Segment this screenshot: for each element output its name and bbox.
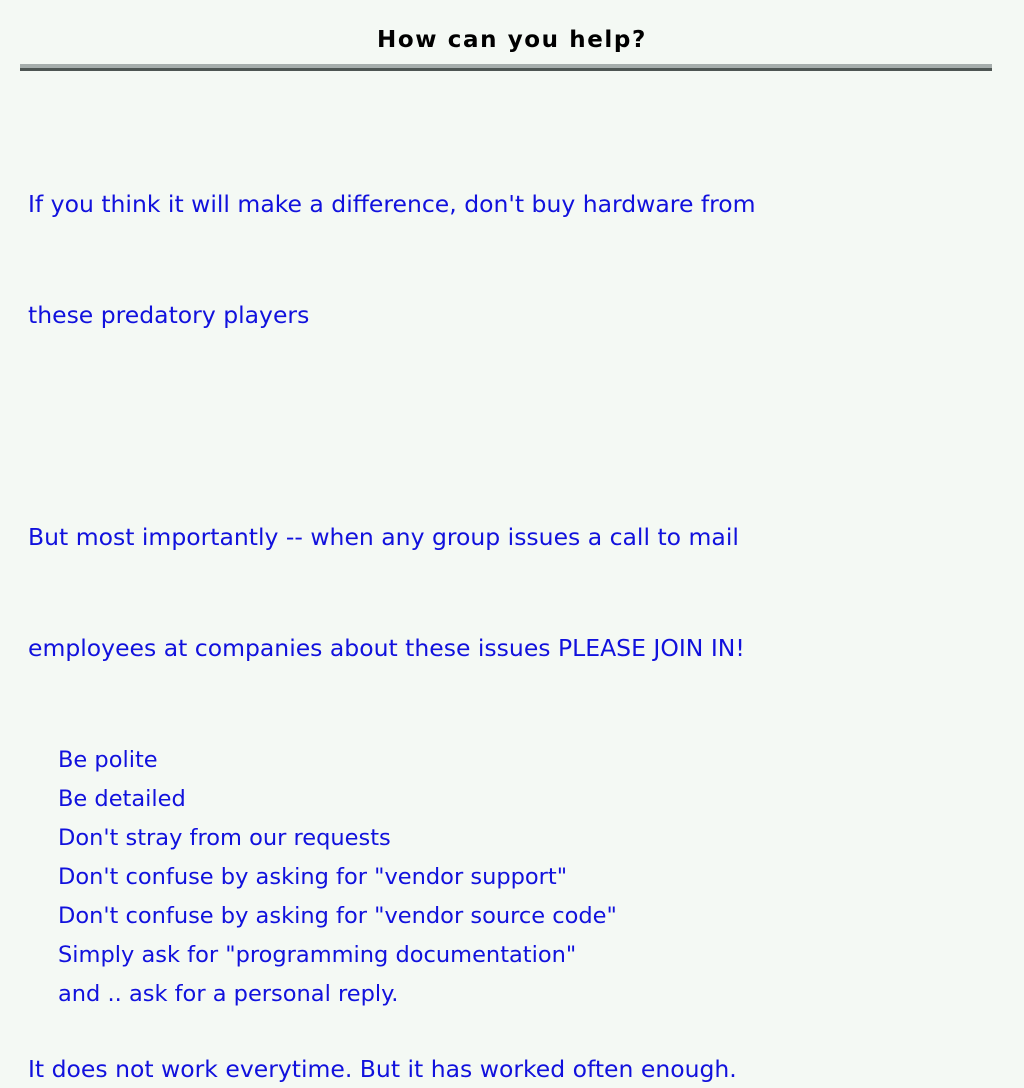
paragraph-1-line-2: these predatory players xyxy=(28,297,996,334)
list-item: Don't confuse by asking for "vendor supp… xyxy=(58,858,996,897)
slide-body: If you think it will make a difference, … xyxy=(28,112,996,1088)
list-item: Don't stray from our requests xyxy=(58,819,996,858)
list-item: Be polite xyxy=(58,741,996,780)
slide-canvas: How can you help? If you think it will m… xyxy=(0,0,1024,768)
list-item: Simply ask for "programming documentatio… xyxy=(58,936,996,975)
closing-paragraph: It does not work everytime. But it has w… xyxy=(28,1051,996,1088)
paragraph-spacer xyxy=(28,408,996,445)
page-title: How can you help? xyxy=(0,26,1024,54)
paragraph-1: If you think it will make a difference, … xyxy=(28,112,996,408)
advice-list: Be polite Be detailed Don't stray from o… xyxy=(58,741,996,1014)
paragraph-2-line-2: employees at companies about these issue… xyxy=(28,630,996,667)
title-divider xyxy=(20,64,992,71)
paragraph-2: But most importantly -- when any group i… xyxy=(28,445,996,741)
list-item: Don't confuse by asking for "vendor sour… xyxy=(58,897,996,936)
paragraph-2-line-1: But most importantly -- when any group i… xyxy=(28,519,996,556)
list-item: and .. ask for a personal reply. xyxy=(58,975,996,1014)
list-item: Be detailed xyxy=(58,780,996,819)
paragraph-1-line-1: If you think it will make a difference, … xyxy=(28,186,996,223)
